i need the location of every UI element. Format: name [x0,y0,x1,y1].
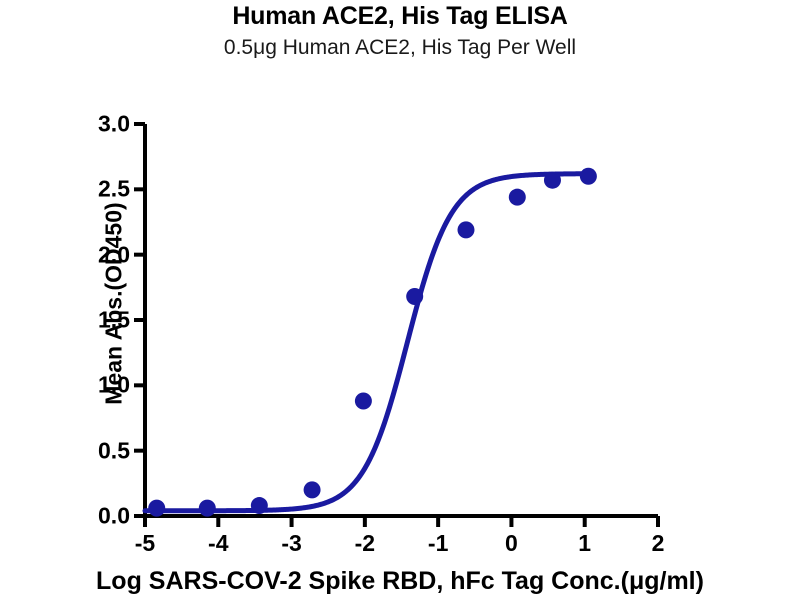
data-point [457,221,474,238]
data-point [251,497,268,514]
data-point [509,189,526,206]
axes-group [134,124,658,527]
x-axis-label: Log SARS-COV-2 Spike RBD, hFc Tag Conc.(… [0,567,800,596]
data-point [580,168,597,185]
fit-curve [145,174,590,511]
plot-area [0,0,800,600]
elisa-chart: Human ACE2, His Tag ELISA 0.5μg Human AC… [0,0,800,600]
data-point [355,393,372,410]
fit-curve-group [145,174,590,511]
data-point [148,500,165,517]
data-point [199,500,216,517]
data-point [544,172,561,189]
data-point [406,288,423,305]
data-point [304,481,321,498]
data-points-group [148,168,597,517]
